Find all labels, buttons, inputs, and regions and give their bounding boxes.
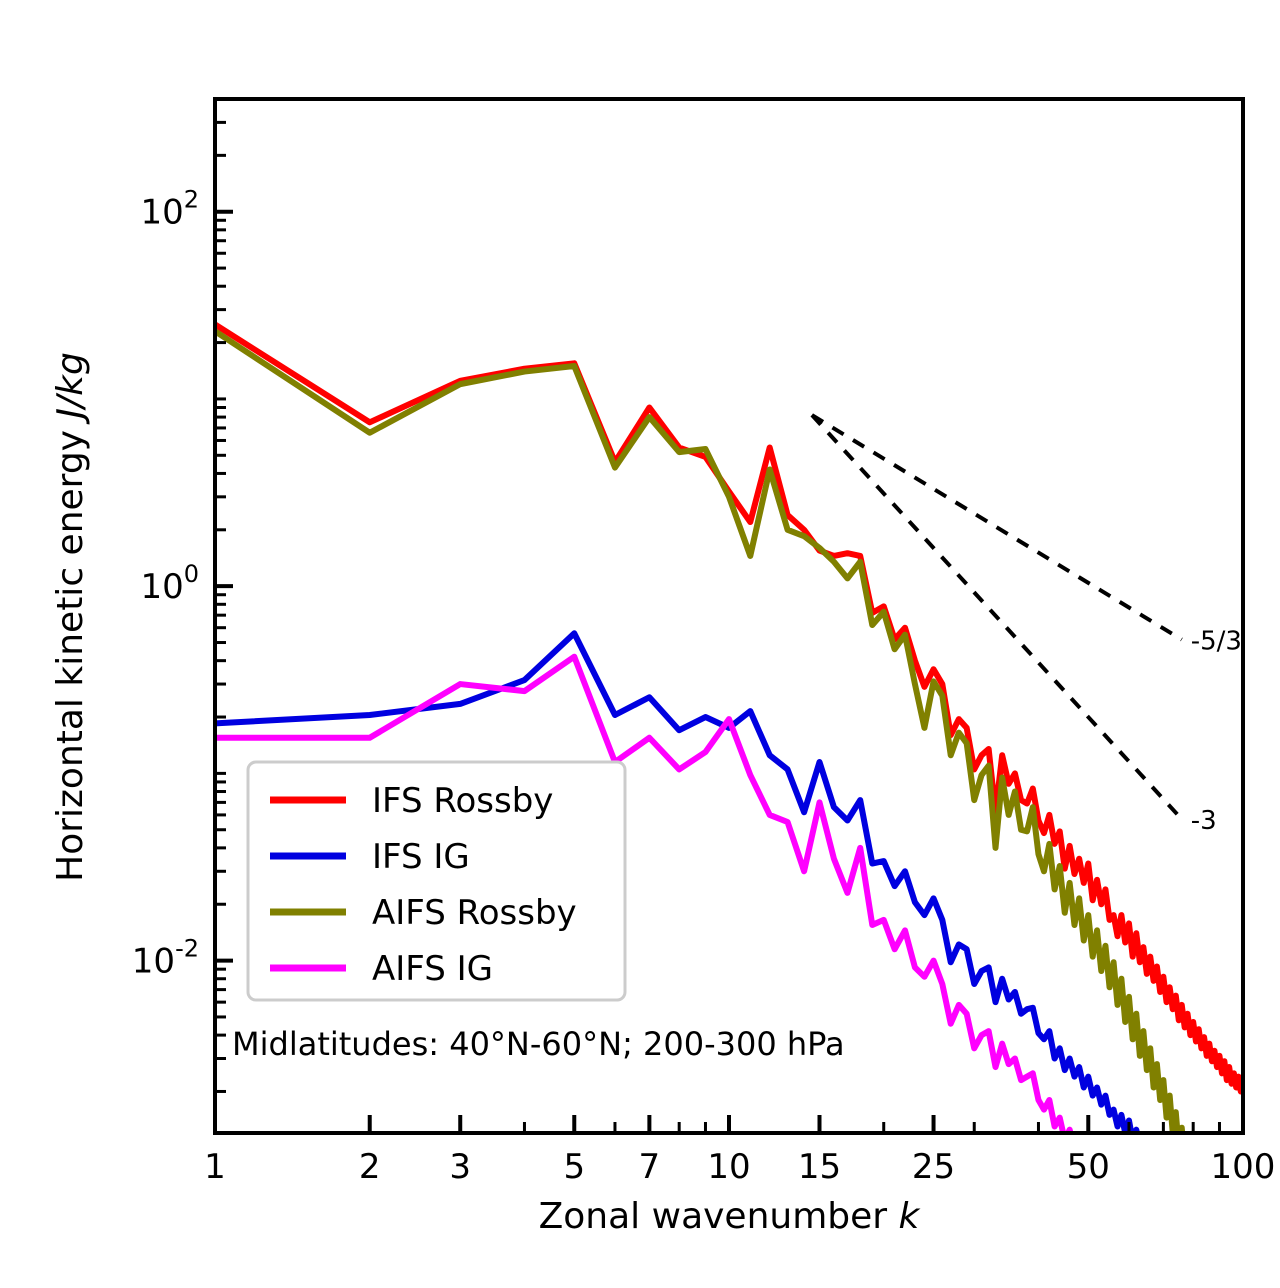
x-tick-label: 2 — [359, 1147, 381, 1187]
y-axis-label: Horizontal kinetic energy J/kg — [50, 352, 91, 882]
x-tick-label: 7 — [639, 1147, 661, 1187]
x-tick-label: 25 — [912, 1147, 955, 1187]
legend-label-ifs-rossby: IFS Rossby — [372, 781, 553, 821]
region-annotation: Midlatitudes: 40°N-60°N; 200-300 hPa — [232, 1025, 845, 1063]
chart-page: HKE: 06/07/2025 00 UTC + 060 hrs -5/3-3 … — [0, 0, 1280, 1288]
spectrum-plot: -5/3-3 123571015255010010210010-2 IFS Ro… — [0, 0, 1280, 1288]
x-tick-label: 50 — [1067, 1147, 1110, 1187]
x-tick-label: 15 — [798, 1147, 841, 1187]
x-tick-label: 5 — [563, 1147, 585, 1187]
legend-label-aifs-ig: AIFS IG — [372, 949, 493, 989]
reference-line-label--3: -3 — [1191, 806, 1217, 836]
x-axis-label: Zonal wavenumber k — [539, 1196, 922, 1237]
x-tick-label: 10 — [707, 1147, 750, 1187]
x-tick-label: 1 — [204, 1147, 226, 1187]
legend-label-ifs-ig: IFS IG — [372, 837, 470, 877]
legend-label-aifs-rossby: AIFS Rossby — [372, 893, 577, 933]
legend-group[interactable]: IFS RossbyIFS IGAIFS RossbyAIFS IG — [248, 762, 625, 1000]
x-tick-label: 100 — [1211, 1147, 1276, 1187]
reference-line-label--5-3: -5/3 — [1191, 627, 1242, 657]
x-tick-label: 3 — [449, 1147, 471, 1187]
